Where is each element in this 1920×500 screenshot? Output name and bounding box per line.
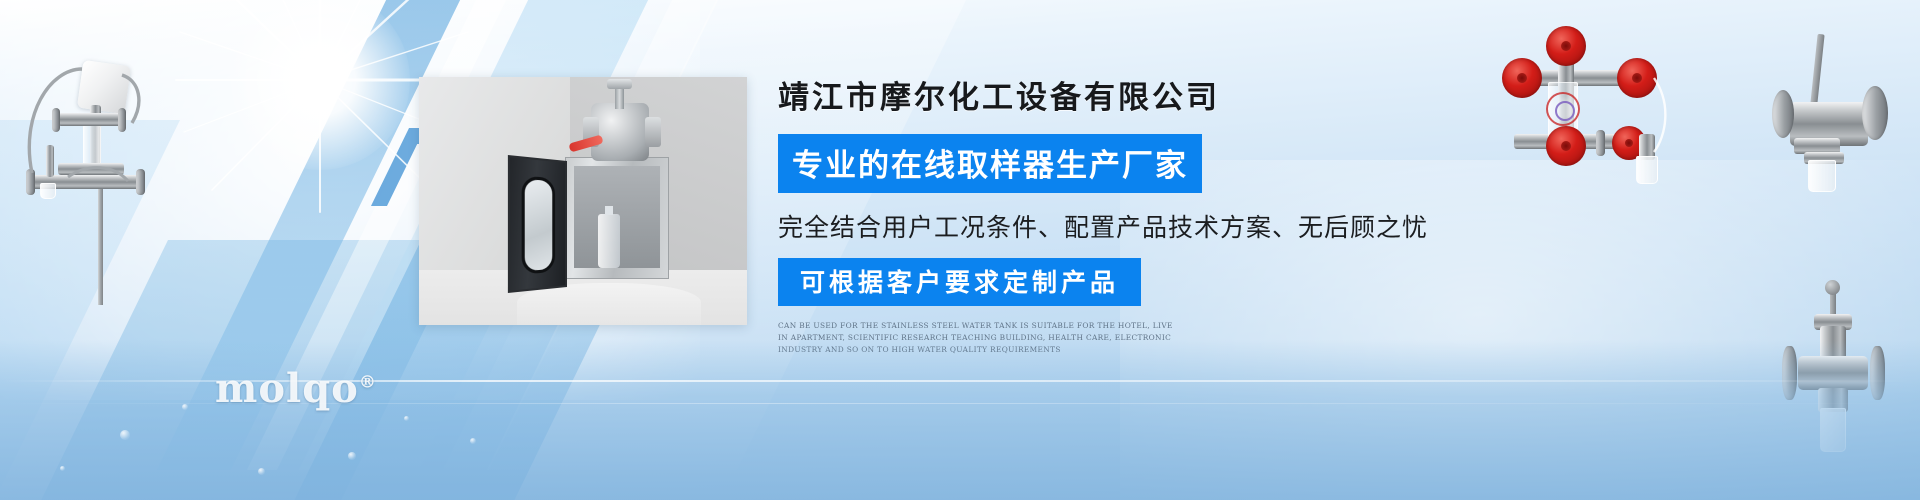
water-droplet [60,466,65,471]
cabinet-door [508,155,567,293]
watermark-logo: molqo® [215,365,377,412]
flange [1862,86,1888,140]
water-droplet [470,438,476,444]
company-name: 靖江市摩尔化工设备有限公司 [778,72,1398,117]
registered-mark-icon: ® [359,373,377,393]
water-surface-band [0,340,1920,500]
sample-bottle [1808,160,1836,192]
door-window [522,176,555,275]
top-valve-assembly [591,103,649,161]
promo-banner: 靖江市摩尔化工设备有限公司 专业的在线取样器生产厂家 完全结合用户工况条件、配置… [0,0,1920,500]
water-droplet [258,468,265,475]
subheadline: 完全结合用户工况条件、配置产品技术方案、无后顾之忧 [778,208,1398,244]
product-image-cross-valve-manifold [1484,30,1684,190]
water-droplet [120,430,130,440]
product-image-left-sampler [10,25,180,305]
water-droplet [182,404,188,410]
sampling-cabinet [565,157,669,279]
lever-knob [1825,280,1840,295]
water-droplet [404,416,409,421]
valve-cap [607,79,632,89]
watermark-text: molqo [215,365,359,412]
center-product-photo [419,77,747,325]
banner-copy: 靖江市摩尔化工设备有限公司 专业的在线取样器生产厂家 完全结合用户工况条件、配置… [778,72,1398,356]
cabinet-interior [574,166,660,268]
flange [1772,90,1794,138]
flange [645,117,661,147]
cta-badge[interactable]: 可根据客户要求定制产品 [778,258,1141,306]
headline-badge: 专业的在线取样器生产厂家 [778,134,1202,193]
water-droplet [348,452,356,460]
product-image-lever-valve [1770,28,1910,223]
operating-lever [1810,34,1824,104]
sample-bottle [598,214,620,268]
